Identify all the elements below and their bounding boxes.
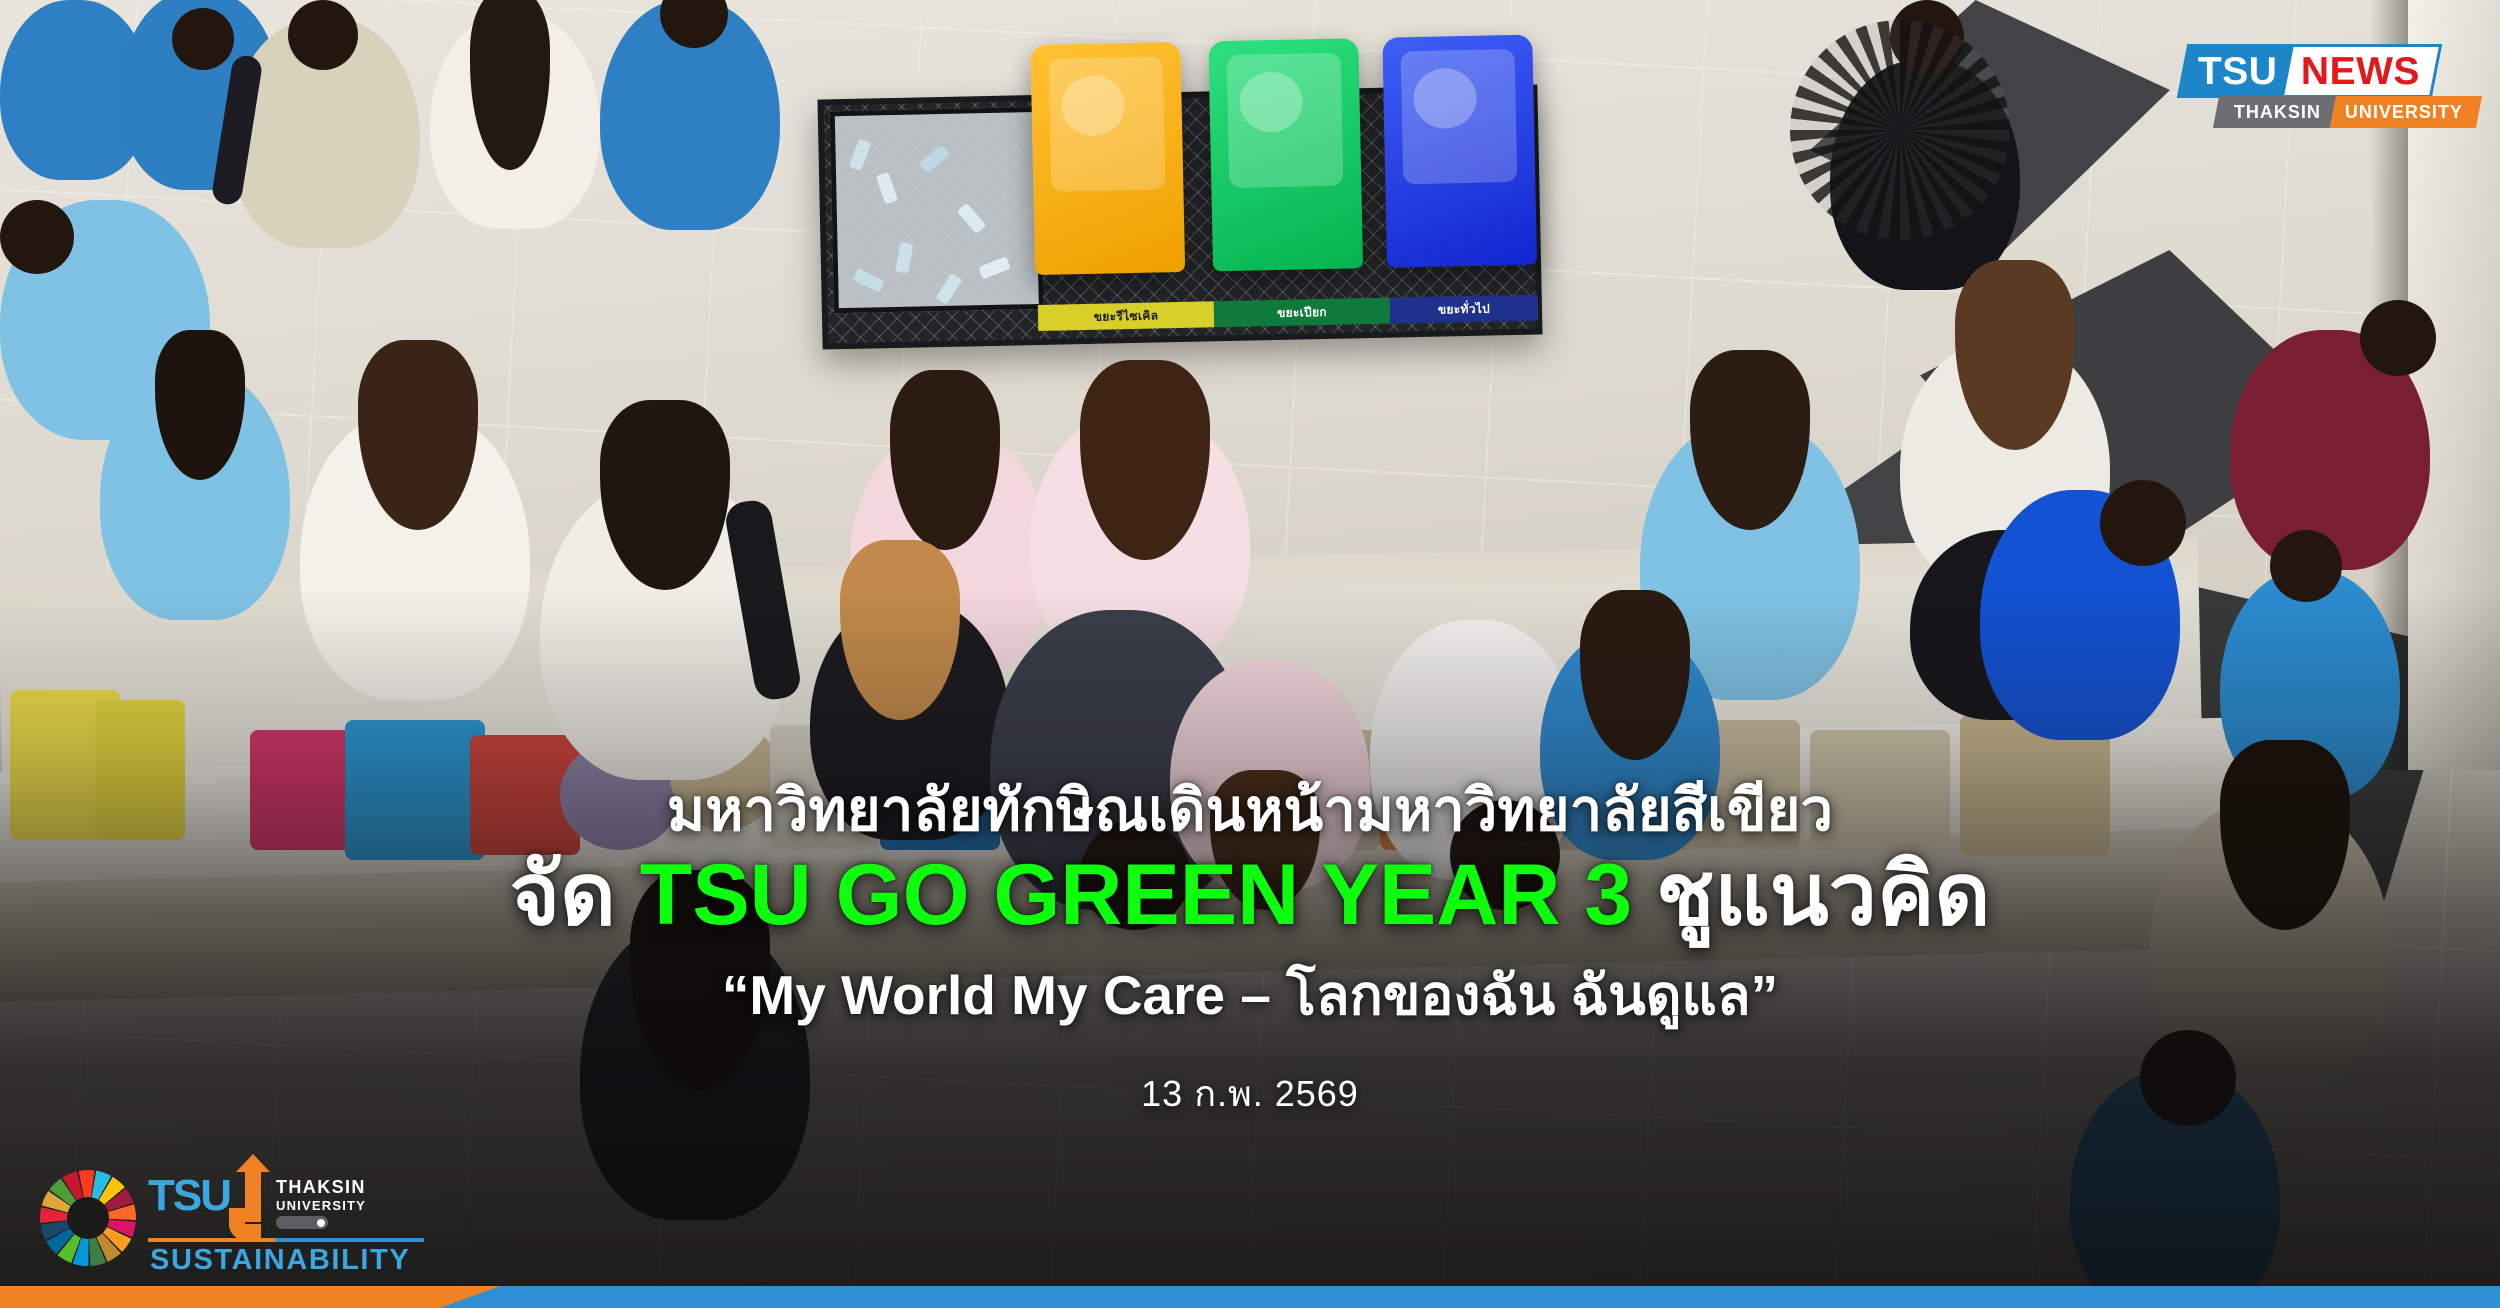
sustainability-word: SUSTAINABILITY (150, 1246, 410, 1275)
headline-suffix: ชูแนวคิด (1632, 847, 1990, 943)
bin-label-recyclable: ขยะรีไซเคิล (1038, 301, 1215, 331)
recycling-bin-yellow (1030, 42, 1185, 275)
bin-label-compostable: ขยะเปียก (1214, 298, 1391, 328)
headline-line-2: จัด TSU GO GREEN YEAR 3 ชูแนวคิด (0, 849, 2500, 942)
logo-divider-rule (148, 1238, 424, 1242)
recycling-bin-blue (1382, 35, 1537, 268)
event-date: 13 ก.พ. 2569 (0, 1065, 2500, 1122)
recycling-bin-rack: ขยะรีไซเคิล ขยะเปียก ขยะทั่วไป (817, 84, 1542, 349)
news-logo-tsu: TSU (2177, 44, 2294, 98)
news-logo-university: UNIVERSITY (2330, 96, 2482, 128)
tsu-news-logo: TSU NEWS THAKSIN UNIVERSITY (2182, 44, 2482, 144)
bottom-bar-orange (0, 1286, 500, 1308)
tsu-sustainability-logo: TSU THAKSIN UNIVERSITY SUSTAINABILITY (40, 1164, 320, 1276)
sustainability-thaksin-text: THAKSIN (276, 1178, 366, 1197)
news-logo-university-text: UNIVERSITY (2345, 102, 2463, 123)
headline-subtitle: “My World My Care – โลกของฉัน ฉันดูแล” (0, 952, 2500, 1039)
news-logo-news: NEWS (2283, 44, 2441, 98)
fan-cage (1790, 20, 2010, 240)
bottle-collection-cage (830, 107, 1044, 313)
sustainability-tsu-text: TSU (148, 1174, 230, 1218)
upward-arrow-icon (245, 1166, 261, 1222)
bin-label-general: ขยะทั่วไป (1390, 295, 1539, 324)
news-logo-thaksin: THAKSIN (2213, 96, 2336, 128)
logo-pill-mark (276, 1216, 328, 1229)
news-cover-graphic: ขยะรีไซเคิล ขยะเปียก ขยะทั่วไป (0, 0, 2500, 1308)
sdg-color-wheel-icon (40, 1170, 136, 1266)
news-logo-tsu-text: TSU (2198, 52, 2278, 91)
news-logo-thaksin-text: THAKSIN (2234, 102, 2321, 123)
headline-campaign-title: TSU GO GREEN YEAR 3 (640, 847, 1632, 943)
headline-block: มหาวิทยาลัยทักษิณเดินหน้ามหาวิทยาลัยสีเข… (0, 780, 2500, 1122)
headline-line-1: มหาวิทยาลัยทักษิณเดินหน้ามหาวิทยาลัยสีเข… (0, 780, 2500, 841)
sustainability-university-text: UNIVERSITY (276, 1198, 366, 1213)
news-logo-news-text: NEWS (2301, 52, 2420, 91)
headline-prefix: จัด (510, 847, 640, 943)
recycling-bin-green (1208, 38, 1363, 271)
